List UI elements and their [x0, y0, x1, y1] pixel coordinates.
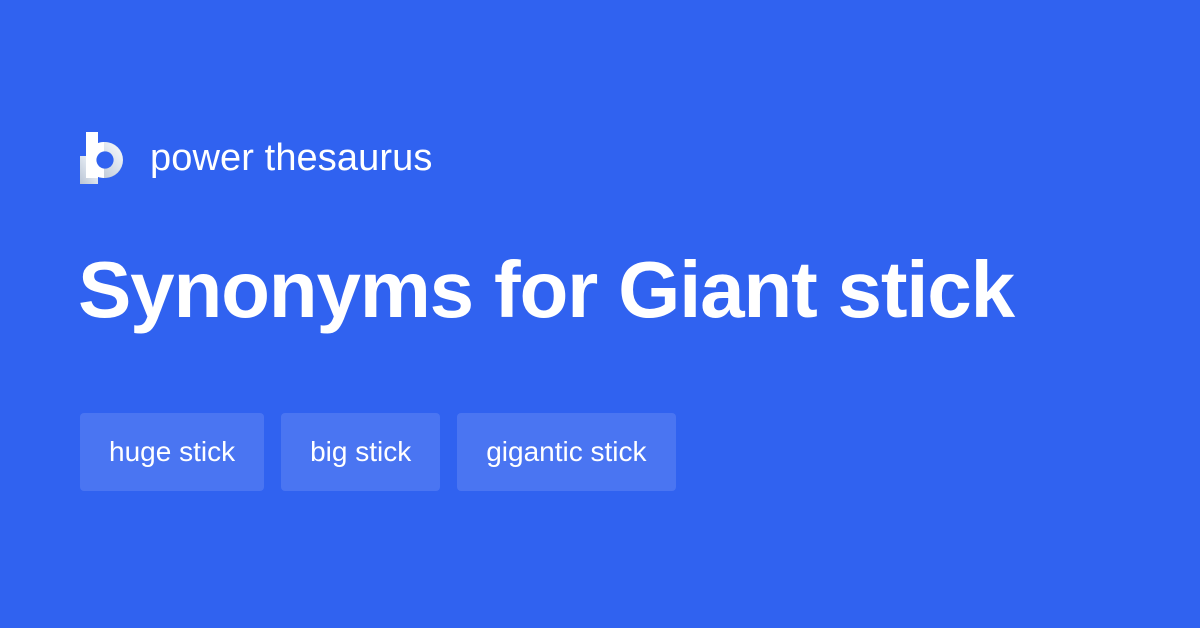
synonym-chip-list: huge stick big stick gigantic stick: [80, 413, 676, 491]
synonym-chip[interactable]: huge stick: [80, 413, 264, 491]
page-title: Synonyms for Giant stick: [78, 248, 1014, 331]
brand-lockup[interactable]: power thesaurus: [80, 128, 432, 188]
synonym-chip[interactable]: big stick: [281, 413, 440, 491]
synonym-chip[interactable]: gigantic stick: [457, 413, 675, 491]
synonym-chip-label: gigantic stick: [486, 438, 646, 466]
brand-name: power thesaurus: [150, 139, 432, 177]
power-thesaurus-b-logo-icon: [80, 132, 128, 184]
synonym-chip-label: big stick: [310, 438, 411, 466]
share-card: power thesaurus Synonyms for Giant stick…: [0, 0, 1200, 628]
synonym-chip-label: huge stick: [109, 438, 235, 466]
